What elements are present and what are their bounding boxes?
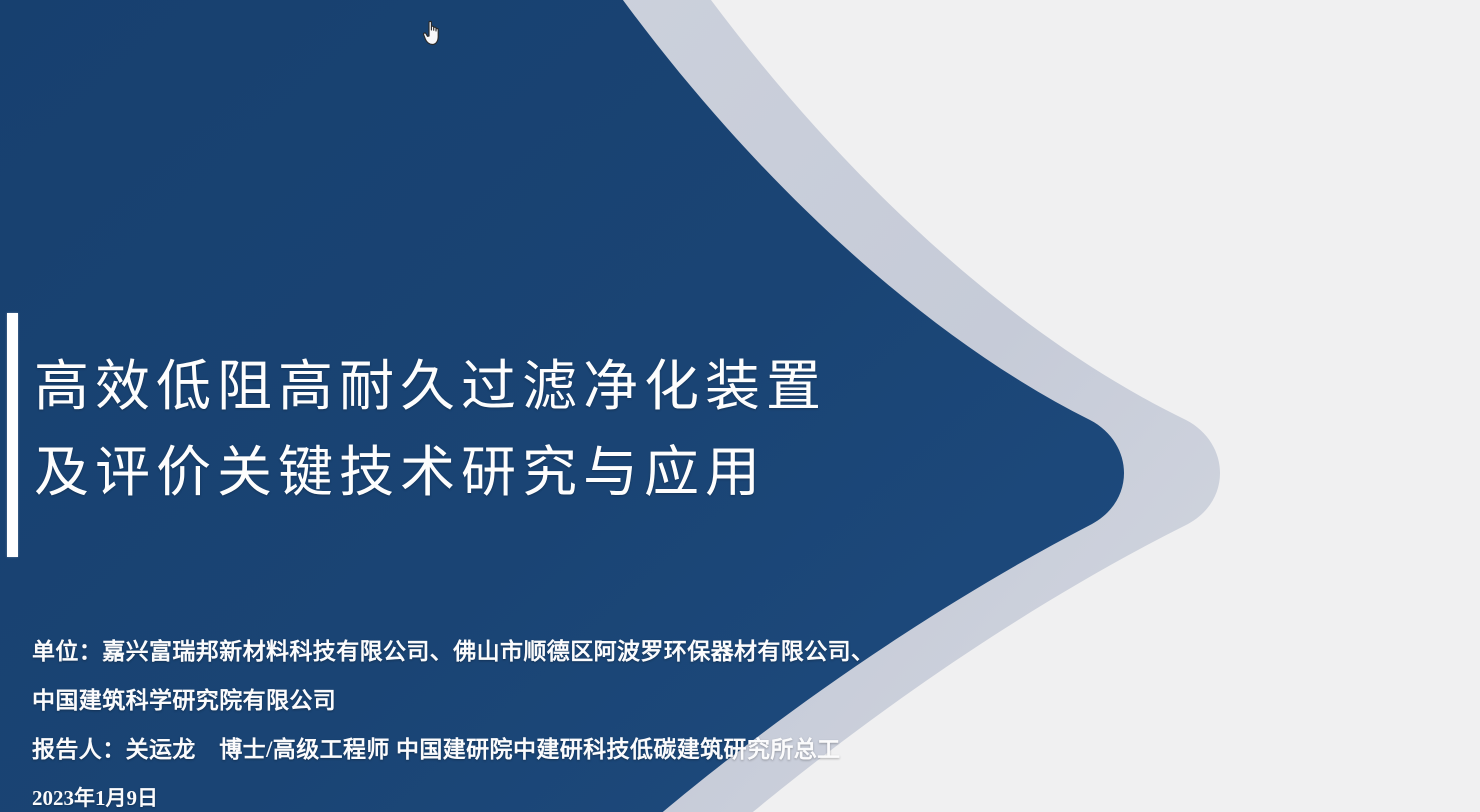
slide-footer: 单位：嘉兴富瑞邦新材料科技有限公司、佛山市顺德区阿波罗环保器材有限公司、 中国建… [32,627,1032,812]
affiliation-line-2: 中国建筑科学研究院有限公司 [32,676,1032,725]
date-line: 2023年1月9日 [32,774,1032,812]
title-accent-bar [7,313,18,557]
title-line-1: 高效低阻高耐久过滤净化装置 [34,344,1044,430]
presenter-line: 报告人：关运龙 博士/高级工程师 中国建研院中建研科技低碳建筑研究所总工 [32,725,1032,774]
presentation-slide: 高效低阻高耐久过滤净化装置 及评价关键技术研究与应用 单位：嘉兴富瑞邦新材料科技… [0,0,1480,812]
affiliation-line-1: 单位：嘉兴富瑞邦新材料科技有限公司、佛山市顺德区阿波罗环保器材有限公司、 [32,627,1032,676]
title-line-2: 及评价关键技术研究与应用 [34,430,1044,516]
slide-title: 高效低阻高耐久过滤净化装置 及评价关键技术研究与应用 [34,344,1044,516]
